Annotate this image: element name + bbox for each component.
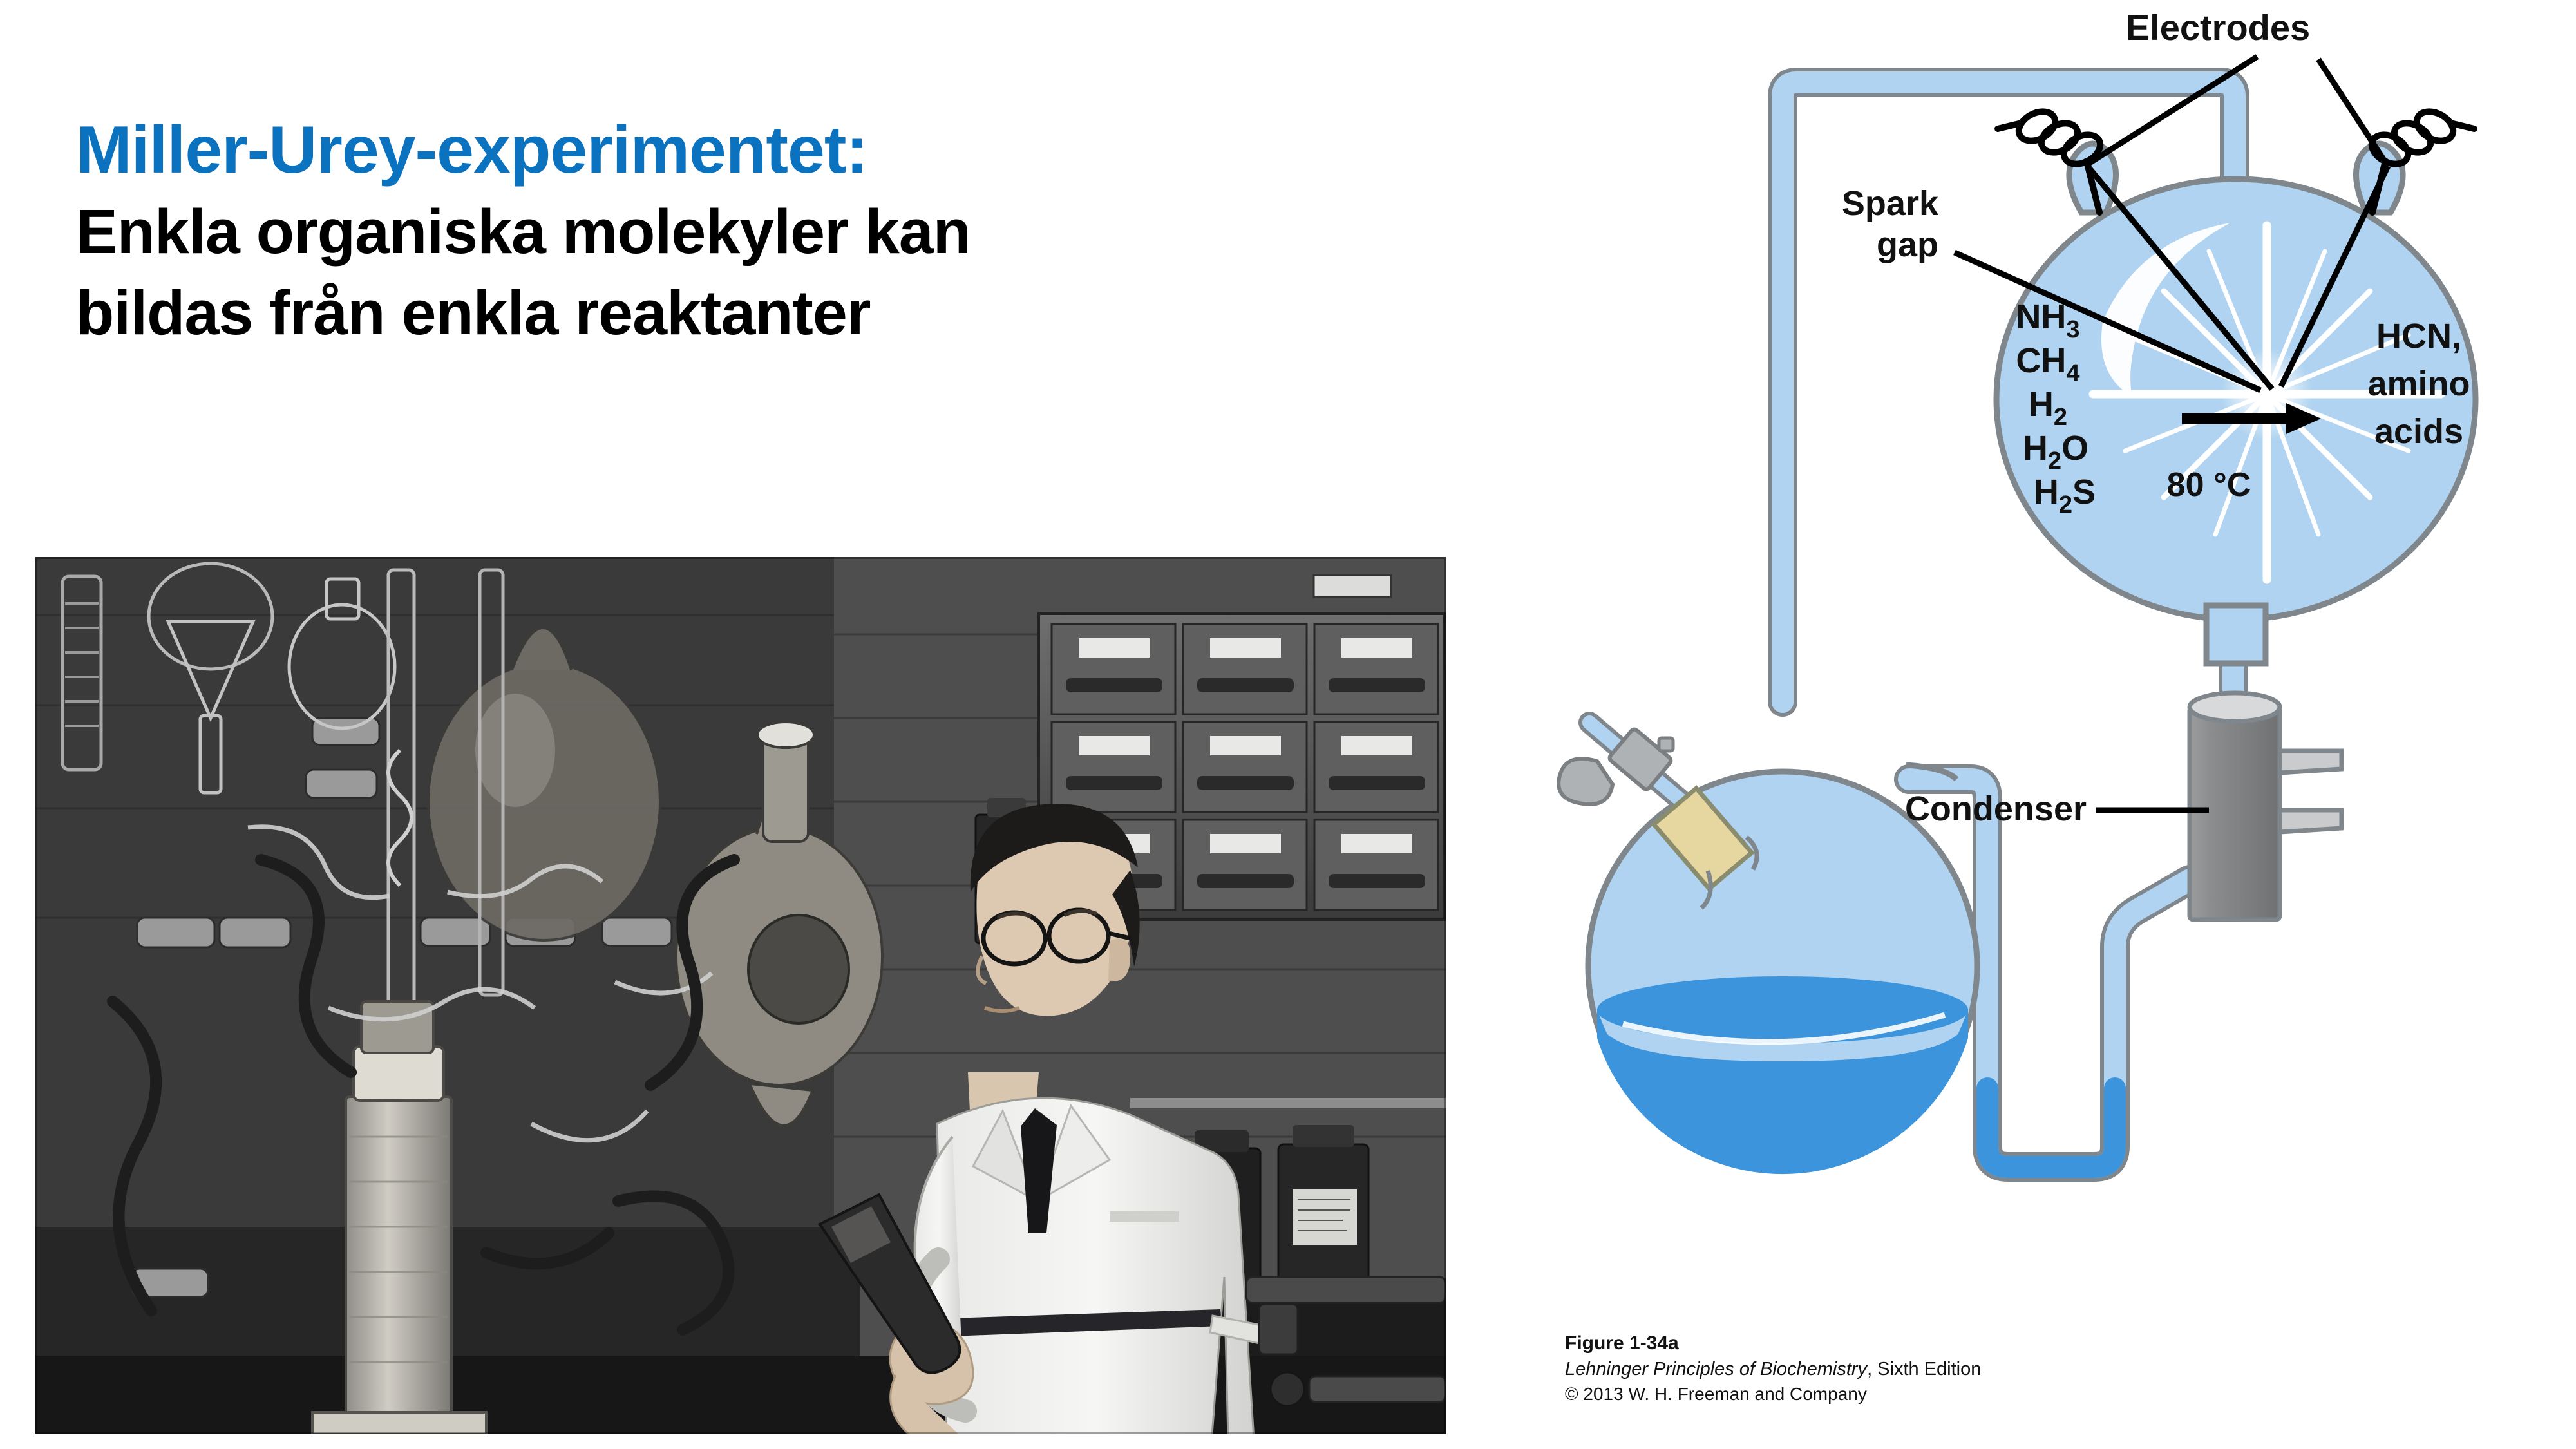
figure-caption: Figure 1-34a Lehninger Principles of Bio… [1565, 1330, 2338, 1407]
caption-copyright: © 2013 W. H. Freeman and Company [1565, 1382, 2338, 1407]
miller-urey-apparatus-diagram: Electrodes Spark gap Condenser 80 °C NH3… [1520, 0, 2576, 1449]
slide-title-block: Miller-Urey-experimentet: Enkla organisk… [76, 109, 1300, 354]
label-spark-gap-line1: Spark [1842, 184, 1939, 223]
product-line-3: acids [2374, 412, 2463, 451]
caption-figure-number: Figure 1-34a [1565, 1330, 2338, 1356]
historical-lab-photograph [35, 557, 1446, 1434]
page-subtitle-line-1: Enkla organiska molekyler kan [76, 191, 1300, 272]
caption-source-edition: , Sixth Edition [1867, 1359, 1981, 1379]
product-line-1: HCN, [2376, 317, 2461, 355]
page-subtitle-line-2: bildas från enkla reaktanter [76, 272, 1300, 354]
products-list: HCN, amino acids [2367, 317, 2470, 451]
apparatus-artwork: Electrodes Spark gap Condenser 80 °C NH3… [1520, 0, 2576, 1449]
valve-handle [1558, 759, 1613, 804]
label-condenser: Condenser [1905, 790, 2087, 828]
caption-source-title: Lehninger Principles of Biochemistry [1565, 1359, 1867, 1379]
caption-source: Lehninger Principles of Biochemistry, Si… [1565, 1356, 2338, 1382]
label-spark-gap-line2: gap [1877, 225, 1938, 264]
product-line-2: amino [2367, 365, 2470, 403]
label-electrodes: Electrodes [2126, 7, 2310, 48]
condenser-body [2190, 707, 2280, 920]
label-temperature: 80 °C [2167, 466, 2251, 504]
page-title: Miller-Urey-experimentet: [76, 109, 1300, 191]
electrodes-leader-right [2318, 59, 2388, 166]
condenser-unit [2190, 693, 2342, 920]
photo-artwork [35, 557, 1446, 1434]
